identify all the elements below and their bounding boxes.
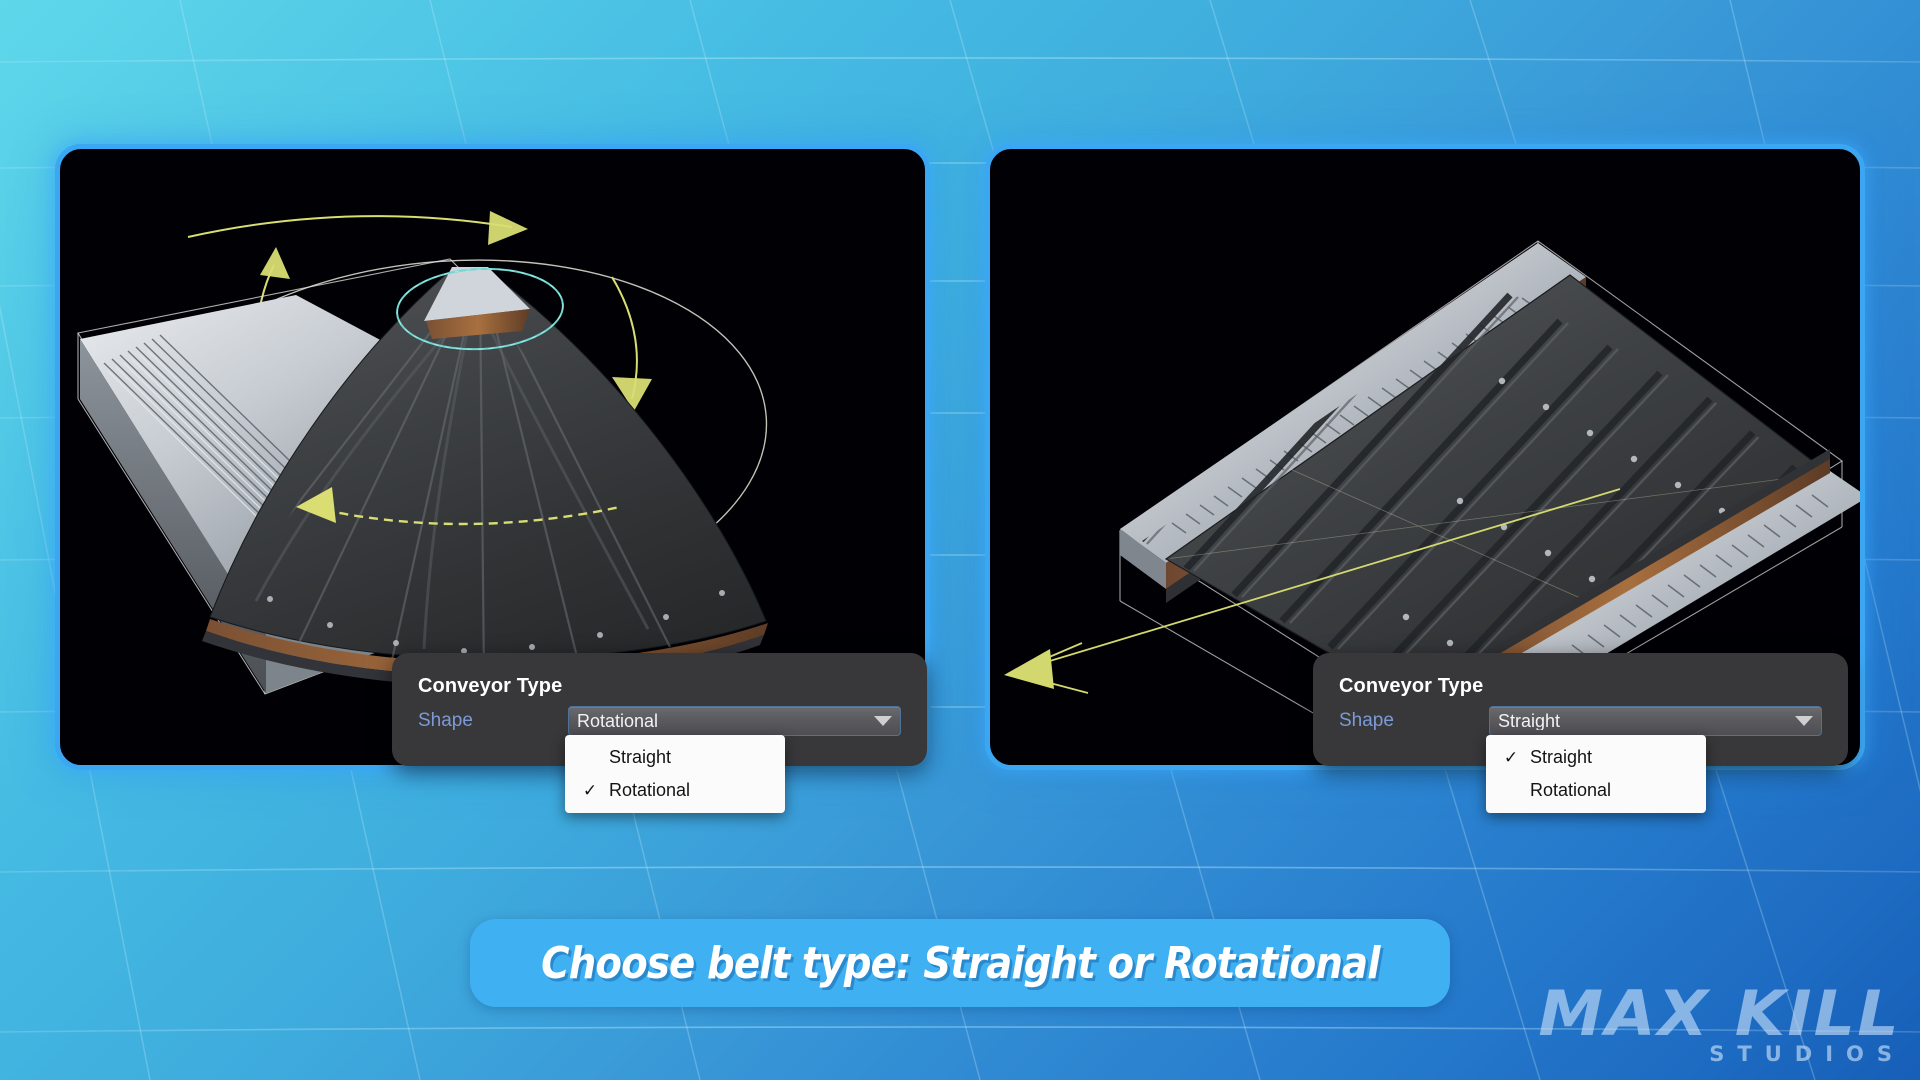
shape-select-value-left: Rotational [577, 712, 868, 730]
conveyor-type-panel-left: Conveyor Type Shape Rotational Straight … [392, 653, 927, 766]
menu-item-label: Rotational [1530, 780, 1611, 801]
chevron-down-icon [874, 716, 892, 726]
shape-field-row-right: Shape Straight ✓ Straight Rotational [1339, 706, 1822, 736]
shape-label-right: Shape [1339, 706, 1489, 732]
menu-item-label: Rotational [609, 780, 690, 801]
panel-title-left: Conveyor Type [418, 675, 901, 698]
menu-item-label: Straight [609, 747, 671, 768]
shape-field-row-left: Shape Rotational Straight ✓ Rotational [418, 706, 901, 736]
check-icon: ✓ [571, 782, 609, 799]
check-icon: ✓ [1492, 749, 1530, 766]
caption-text: Choose belt type: Straight or Rotational [541, 938, 1380, 989]
menu-item-straight-right[interactable]: ✓ Straight [1486, 741, 1706, 774]
menu-item-rotational-left[interactable]: ✓ Rotational [565, 774, 785, 807]
watermark-main-text: MAX KILL [1538, 985, 1900, 1044]
watermark-logo: MAX KILL STUDIOS [1547, 985, 1892, 1066]
panel-title-right: Conveyor Type [1339, 675, 1822, 698]
shape-dropdown-menu-left[interactable]: Straight ✓ Rotational [565, 735, 785, 813]
shape-dropdown-menu-right[interactable]: ✓ Straight Rotational [1486, 735, 1706, 813]
chevron-down-icon [1795, 716, 1813, 726]
shape-select-right[interactable]: Straight [1489, 706, 1822, 736]
conveyor-type-panel-right: Conveyor Type Shape Straight ✓ Straight … [1313, 653, 1848, 766]
menu-item-straight-left[interactable]: Straight [565, 741, 785, 774]
caption-banner: Choose belt type: Straight or Rotational [470, 919, 1450, 1007]
menu-item-rotational-right[interactable]: Rotational [1486, 774, 1706, 807]
shape-label-left: Shape [418, 706, 568, 732]
menu-item-label: Straight [1530, 747, 1592, 768]
shape-select-left[interactable]: Rotational [568, 706, 901, 736]
shape-select-value-right: Straight [1498, 712, 1789, 730]
watermark-sub-text: STUDIOS [1547, 1042, 1905, 1066]
